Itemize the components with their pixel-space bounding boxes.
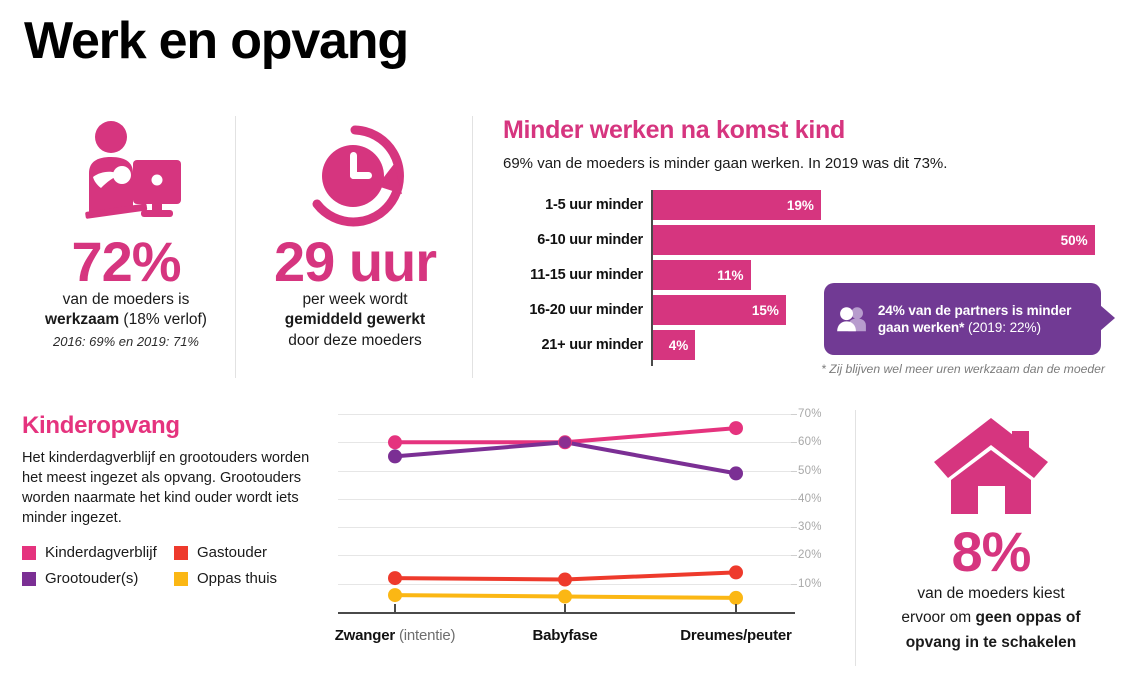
house-text-line3: opvang in te schakelen bbox=[866, 633, 1116, 653]
line-chart-legend: Kinderdagverblijf Gastouder Grootouder(s… bbox=[22, 544, 332, 596]
y-axis-label-20: 20% bbox=[798, 549, 822, 561]
bar-chart-subtitle: 69% van de moeders is minder gaan werken… bbox=[503, 155, 1113, 172]
table-row: 6-10 uur minder 50% bbox=[503, 225, 1113, 255]
legend-swatch-gastouder bbox=[174, 546, 188, 560]
data-point-gastouder-2 bbox=[729, 565, 743, 579]
divider-vertical-2 bbox=[472, 116, 473, 378]
y-axis-label-50: 50% bbox=[798, 465, 822, 477]
legend-label-grootouders: Grootouder(s) bbox=[45, 570, 138, 587]
x-tick-0 bbox=[394, 604, 396, 613]
data-point-grootouders-0 bbox=[388, 449, 402, 463]
two-people-icon bbox=[836, 296, 869, 342]
y-axis-label-10: 10% bbox=[798, 578, 822, 590]
x-tick-1 bbox=[564, 604, 566, 613]
kinderopvang-block: Kinderopvang Het kinderdagverblijf en gr… bbox=[22, 412, 332, 596]
stat-value-geen-opvang: 8% bbox=[866, 524, 1116, 580]
partners-callout-text: 24% van de partners is minder gaan werke… bbox=[878, 302, 1089, 337]
stat-value-uren: 29 uur bbox=[255, 234, 455, 290]
bar-fill-4: 4% bbox=[653, 330, 695, 360]
y-axis-label-30: 30% bbox=[798, 521, 822, 533]
legend-label-kinderdagverblijf: Kinderdagverblijf bbox=[45, 544, 157, 561]
house-icon bbox=[930, 412, 1052, 520]
house-text-pre: ervoor om bbox=[901, 609, 975, 626]
house-text-line2: ervoor om geen oppas of bbox=[866, 608, 1116, 628]
data-point-oppas-thuis-1 bbox=[558, 590, 572, 604]
stat-uren-line3: door deze moeders bbox=[255, 331, 455, 351]
x-axis-label-babyfase: Babyfase bbox=[532, 627, 597, 644]
table-row: 1-5 uur minder 19% bbox=[503, 190, 1113, 220]
bar-label-3: 16-20 uur minder bbox=[503, 295, 643, 325]
legend-item-kinderdagverblijf: Kinderdagverblijf bbox=[22, 544, 174, 561]
data-point-kinderdagverblijf-2 bbox=[729, 421, 743, 435]
line-chart-series bbox=[338, 414, 793, 612]
stat-card-uren: 29 uur per week wordt gemiddeld gewerkt … bbox=[255, 120, 455, 351]
stat-uren-bold: gemiddeld gewerkt bbox=[285, 311, 425, 328]
y-axis-label-60: 60% bbox=[798, 436, 822, 448]
data-point-grootouders-2 bbox=[729, 466, 743, 480]
legend-swatch-oppas-thuis bbox=[174, 572, 188, 586]
woman-at-computer-icon bbox=[67, 120, 185, 232]
stat-text-bold: werkzaam bbox=[45, 311, 119, 328]
stat-value-werkzaam: 72% bbox=[22, 234, 230, 290]
bar-fill-3: 15% bbox=[653, 295, 786, 325]
bar-track-1: 50% bbox=[653, 225, 1113, 255]
y-axis-label-40: 40% bbox=[798, 493, 822, 505]
kinderopvang-title: Kinderopvang bbox=[22, 412, 332, 440]
data-point-gastouder-0 bbox=[388, 571, 402, 585]
legend-item-oppas-thuis: Oppas thuis bbox=[174, 570, 326, 587]
stat-card-geen-opvang: 8% van de moeders kiest ervoor om geen o… bbox=[866, 412, 1116, 653]
house-text-bold-2: opvang in te schakelen bbox=[906, 634, 1077, 651]
x-axis-label-zwanger: Zwanger (intentie) bbox=[335, 627, 456, 644]
page-title: Werk en opvang bbox=[24, 14, 408, 69]
x-label-bold-2: Dreumes/peuter bbox=[680, 627, 791, 644]
data-point-kinderdagverblijf-0 bbox=[388, 435, 402, 449]
infographic-page: Werk en opvang 72% van de moeders is wer… bbox=[0, 0, 1123, 681]
data-point-oppas-thuis-2 bbox=[729, 591, 743, 605]
house-text-line1: van de moeders kiest bbox=[866, 584, 1116, 604]
bar-label-0: 1-5 uur minder bbox=[503, 190, 643, 220]
bar-chart-title: Minder werken na komst kind bbox=[503, 116, 1113, 145]
bar-label-4: 21+ uur minder bbox=[503, 330, 643, 360]
stat-card-werkzaam: 72% van de moeders is werkzaam (18% verl… bbox=[22, 120, 230, 349]
house-text-bold-1: geen oppas of bbox=[976, 609, 1081, 626]
data-point-oppas-thuis-0 bbox=[388, 588, 402, 602]
partners-callout-light: (2019: 22%) bbox=[964, 320, 1041, 335]
stat-subnote-werkzaam: 2016: 69% en 2019: 71% bbox=[22, 334, 230, 349]
legend-label-gastouder: Gastouder bbox=[197, 544, 267, 561]
data-point-grootouders-1 bbox=[559, 436, 571, 448]
bar-label-1: 6-10 uur minder bbox=[503, 225, 643, 255]
bar-fill-0: 19% bbox=[653, 190, 821, 220]
bar-label-2: 11-15 uur minder bbox=[503, 260, 643, 290]
legend-swatch-kinderdagverblijf bbox=[22, 546, 36, 560]
bar-track-0: 19% bbox=[653, 190, 1113, 220]
y-tick-30 bbox=[791, 527, 797, 528]
divider-vertical-1 bbox=[235, 116, 236, 378]
y-axis-label-70: 70% bbox=[798, 408, 822, 420]
stat-text-line2: werkzaam (18% verlof) bbox=[22, 310, 230, 330]
x-label-thin-0: (intentie) bbox=[395, 627, 455, 644]
stat-text-line1: van de moeders is bbox=[22, 290, 230, 310]
line-chart-plot bbox=[338, 414, 793, 612]
partners-callout: 24% van de partners is minder gaan werke… bbox=[824, 283, 1101, 355]
x-axis-label-dreumes: Dreumes/peuter bbox=[680, 627, 791, 644]
stat-uren-line2: gemiddeld gewerkt bbox=[255, 310, 455, 330]
x-label-bold-0: Zwanger bbox=[335, 627, 395, 644]
data-point-gastouder-1 bbox=[558, 573, 572, 587]
divider-vertical-3 bbox=[855, 410, 856, 666]
clock-arrow-icon bbox=[299, 120, 411, 232]
stat-uren-line1: per week wordt bbox=[255, 290, 455, 310]
legend-item-grootouders: Grootouder(s) bbox=[22, 570, 174, 587]
y-tick-40 bbox=[791, 499, 797, 500]
line-chart-x-axis bbox=[338, 612, 795, 614]
y-tick-60 bbox=[791, 442, 797, 443]
y-tick-50 bbox=[791, 471, 797, 472]
x-tick-2 bbox=[735, 604, 737, 613]
legend-item-gastouder: Gastouder bbox=[174, 544, 326, 561]
kinderopvang-body: Het kinderdagverblijf en grootouders wor… bbox=[22, 449, 332, 528]
legend-label-oppas-thuis: Oppas thuis bbox=[197, 570, 277, 587]
stat-text-rest: (18% verlof) bbox=[119, 311, 207, 328]
y-tick-20 bbox=[791, 555, 797, 556]
x-label-bold-1: Babyfase bbox=[532, 627, 597, 644]
legend-swatch-grootouders bbox=[22, 572, 36, 586]
y-tick-70 bbox=[791, 414, 797, 415]
bar-fill-1: 50% bbox=[653, 225, 1095, 255]
bar-fill-2: 11% bbox=[653, 260, 751, 290]
bottom-section: Kinderopvang Het kinderdagverblijf en gr… bbox=[0, 402, 1123, 681]
bar-chart-footnote: * Zij blijven wel meer uren werkzaam dan… bbox=[760, 362, 1105, 376]
line-chart: 70% 60% 50% 40% 30% 20% 10% Zwanger (int… bbox=[338, 414, 843, 659]
y-tick-10 bbox=[791, 584, 797, 585]
